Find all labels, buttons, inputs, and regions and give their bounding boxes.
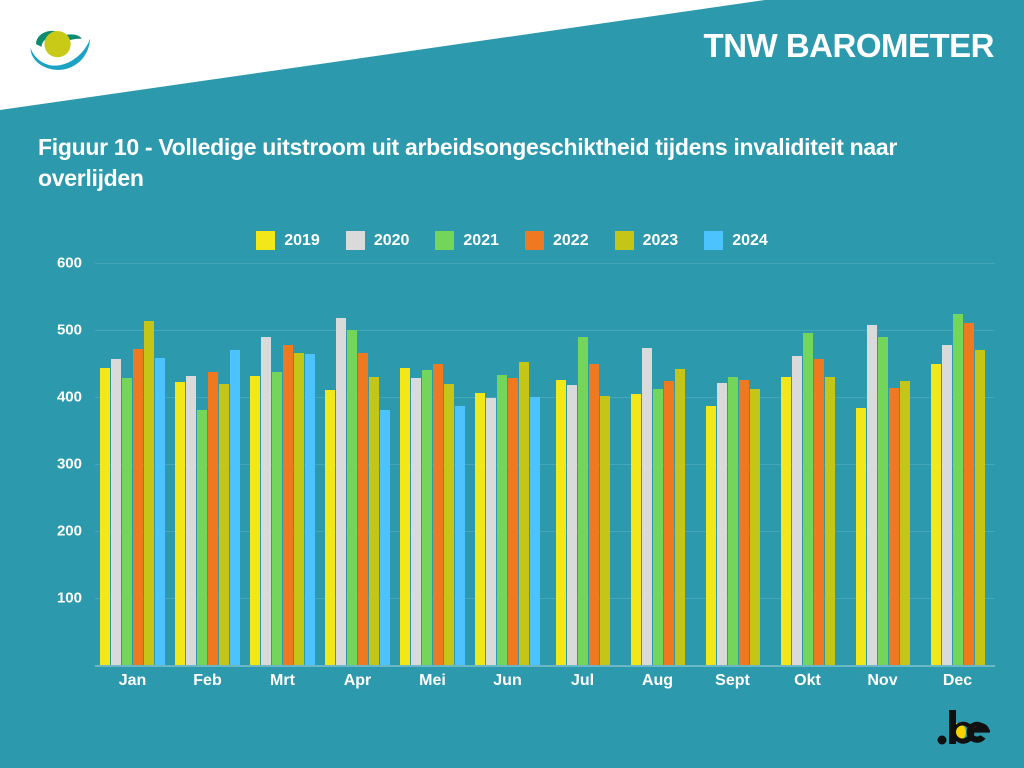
bar-group-Sept (695, 263, 770, 665)
page-title: TNW BAROMETER (704, 27, 994, 65)
legend-label-2021: 2021 (463, 232, 499, 250)
legend-swatch-2021 (435, 231, 454, 250)
bar-Jun-2023 (519, 362, 529, 666)
legend-item-2020[interactable]: 2020 (346, 231, 410, 250)
bar-Jan-2019 (100, 368, 110, 665)
bar-Okt-2023 (825, 377, 835, 665)
bar-Mei-2021 (422, 370, 432, 665)
figure-title: Figuur 10 - Volledige uitstroom uit arbe… (38, 132, 998, 194)
bar-Mei-2023 (444, 384, 454, 665)
bar-Okt-2020 (792, 356, 802, 665)
bar-Nov-2019 (856, 408, 866, 665)
bar-Jul-2020 (567, 385, 577, 665)
bar-group-Mei (395, 263, 470, 665)
y-axis-tick-400: 400 (57, 389, 82, 406)
bar-Okt-2019 (781, 377, 791, 665)
riziv-inami-logo (26, 22, 96, 76)
bar-Mei-2022 (433, 364, 443, 666)
bar-Aug-2020 (642, 348, 652, 665)
bar-Jan-2020 (111, 359, 121, 665)
bar-Aug-2019 (631, 394, 641, 665)
bar-Sept-2021 (728, 377, 738, 665)
bar-Dec-2020 (942, 345, 952, 665)
x-axis-tick-Jul: Jul (545, 672, 620, 690)
legend-swatch-2024 (704, 231, 723, 250)
bar-Feb-2019 (175, 382, 185, 665)
y-axis-labels: 100200300400500600 (0, 263, 90, 665)
x-axis-tick-Apr: Apr (320, 672, 395, 690)
bar-Mrt-2024 (305, 354, 315, 665)
bar-Jul-2022 (589, 364, 599, 666)
y-axis-tick-600: 600 (57, 255, 82, 272)
bar-group-Aug (620, 263, 695, 665)
bar-Jul-2021 (578, 337, 588, 665)
bar-Jun-2022 (508, 378, 518, 665)
bar-Sept-2023 (750, 389, 760, 665)
x-axis-tick-Jan: Jan (95, 672, 170, 690)
bar-Mei-2020 (411, 378, 421, 665)
bar-Jun-2024 (530, 397, 540, 665)
legend-label-2023: 2023 (643, 232, 679, 250)
bar-group-Jul (545, 263, 620, 665)
bar-group-Dec (920, 263, 995, 665)
y-axis-tick-500: 500 (57, 322, 82, 339)
bar-Dec-2021 (953, 314, 963, 665)
bar-Feb-2023 (219, 384, 229, 665)
x-axis-line (95, 665, 995, 667)
bar-Apr-2022 (358, 353, 368, 665)
legend-label-2024: 2024 (732, 232, 768, 250)
bar-group-Okt (770, 263, 845, 665)
legend-item-2022[interactable]: 2022 (525, 231, 589, 250)
y-axis-tick-300: 300 (57, 456, 82, 473)
bar-groups (95, 263, 995, 665)
x-axis-tick-Sept: Sept (695, 672, 770, 690)
bar-Apr-2021 (347, 330, 357, 665)
legend-swatch-2019 (256, 231, 275, 250)
bar-Mrt-2022 (283, 345, 293, 665)
y-axis-tick-100: 100 (57, 590, 82, 607)
bar-Apr-2023 (369, 377, 379, 665)
x-axis-tick-Mrt: Mrt (245, 672, 320, 690)
bar-group-Jun (470, 263, 545, 665)
bar-Aug-2022 (664, 381, 674, 665)
bar-Sept-2020 (717, 383, 727, 665)
y-axis-tick-200: 200 (57, 523, 82, 540)
bar-Apr-2020 (336, 318, 346, 665)
bar-Jul-2023 (600, 396, 610, 665)
x-axis-tick-Okt: Okt (770, 672, 845, 690)
bar-Jan-2021 (122, 378, 132, 665)
bar-Mei-2024 (455, 406, 465, 665)
x-axis-tick-Dec: Dec (920, 672, 995, 690)
bar-Feb-2024 (230, 350, 240, 665)
bar-Nov-2020 (867, 325, 877, 665)
bar-Jan-2022 (133, 349, 143, 665)
bar-Apr-2019 (325, 390, 335, 665)
chart-legend: 201920202021202220232024 (0, 231, 1024, 250)
legend-item-2021[interactable]: 2021 (435, 231, 499, 250)
bar-Dec-2022 (964, 323, 974, 665)
legend-label-2022: 2022 (553, 232, 589, 250)
bar-Apr-2024 (380, 410, 390, 665)
x-axis-tick-Mei: Mei (395, 672, 470, 690)
x-axis-labels: JanFebMrtAprMeiJunJulAugSeptOktNovDec (95, 672, 995, 690)
bar-Dec-2023 (975, 350, 985, 665)
belgium-be-logo (936, 706, 996, 748)
bar-group-Apr (320, 263, 395, 665)
bar-Nov-2023 (900, 381, 910, 665)
legend-item-2024[interactable]: 2024 (704, 231, 768, 250)
bar-Aug-2023 (675, 369, 685, 665)
bar-Nov-2021 (878, 337, 888, 665)
legend-item-2023[interactable]: 2023 (615, 231, 679, 250)
bar-Jun-2021 (497, 375, 507, 665)
bar-Jan-2023 (144, 321, 154, 665)
bar-group-Mrt (245, 263, 320, 665)
bar-group-Nov (845, 263, 920, 665)
bar-Feb-2021 (197, 410, 207, 665)
x-axis-tick-Nov: Nov (845, 672, 920, 690)
x-axis-tick-Feb: Feb (170, 672, 245, 690)
legend-swatch-2020 (346, 231, 365, 250)
legend-swatch-2023 (615, 231, 634, 250)
legend-swatch-2022 (525, 231, 544, 250)
bar-Jul-2019 (556, 380, 566, 665)
x-axis-tick-Jun: Jun (470, 672, 545, 690)
bar-Feb-2020 (186, 376, 196, 665)
bar-Okt-2022 (814, 359, 824, 665)
x-axis-tick-Aug: Aug (620, 672, 695, 690)
bar-Jun-2020 (486, 398, 496, 665)
bar-Mrt-2019 (250, 376, 260, 665)
bar-Okt-2021 (803, 333, 813, 665)
bar-group-Jan (95, 263, 170, 665)
legend-label-2020: 2020 (374, 232, 410, 250)
bar-Feb-2022 (208, 372, 218, 665)
page-header: TNW BAROMETER (0, 0, 1024, 110)
bar-Jun-2019 (475, 393, 485, 665)
bar-group-Feb (170, 263, 245, 665)
bar-Jan-2024 (155, 358, 165, 665)
bar-Dec-2019 (931, 364, 941, 665)
bar-Nov-2022 (889, 388, 899, 665)
bar-Mei-2019 (400, 368, 410, 665)
bar-Mrt-2021 (272, 372, 282, 665)
bar-Aug-2021 (653, 389, 663, 665)
legend-item-2019[interactable]: 2019 (256, 231, 320, 250)
bar-Mrt-2023 (294, 353, 304, 665)
legend-label-2019: 2019 (284, 232, 320, 250)
bar-Mrt-2020 (261, 337, 271, 665)
bar-Sept-2019 (706, 406, 716, 665)
bar-Sept-2022 (739, 380, 749, 665)
